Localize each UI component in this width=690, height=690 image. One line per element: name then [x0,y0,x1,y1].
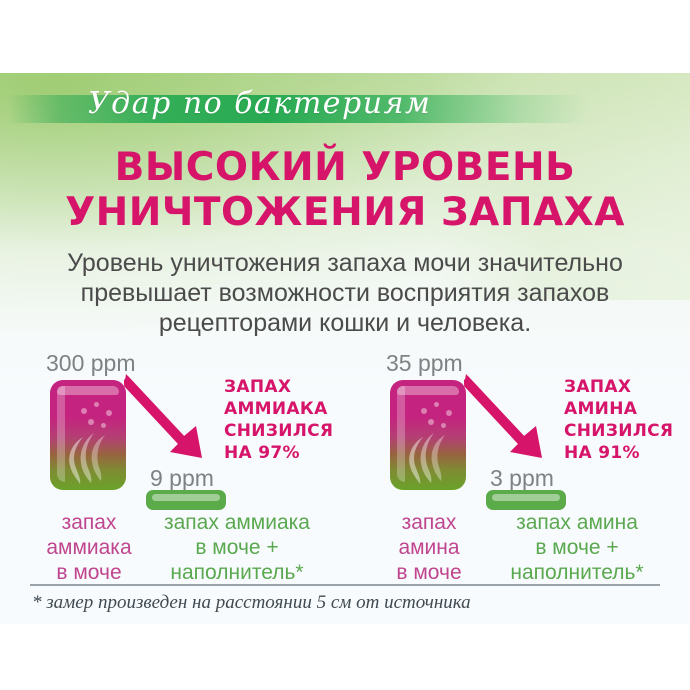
footnote-text: * замер произведен на расстоянии 5 см от… [32,592,662,614]
caption-after: запах аммиака в моче + наполнитель* [134,510,340,585]
callout-reduction: ЗАПАХ АМИНА СНИЗИЛСЯ НА 91% [564,376,690,464]
infographic-poster: Удар по бактериям ВЫСОКИЙ УРОВЕНЬ УНИЧТО… [0,0,690,690]
chart-group-ammonia: 300 ppm 9 ppm ЗАПАХ АММИАКА [28,350,358,585]
odor-wave-icon [390,380,466,490]
bar-before [50,380,126,490]
caption-before: запах аммиака в моче [36,510,142,585]
value-label-before: 35 ppm [386,350,463,377]
odor-wave-icon [50,380,126,490]
background-top-white [0,0,690,73]
callout-line-3: СНИЗИЛСЯ [224,420,364,442]
callout-line-1: ЗАПАХ [564,376,690,398]
value-label-after: 9 ppm [150,465,214,492]
caption-after: запах амина в моче + наполнитель* [474,510,680,585]
value-label-after: 3 ppm [490,465,554,492]
bar-after [146,490,226,510]
subtitle-line-1: Уровень уничтожения запаха мочи значител… [12,248,678,278]
callout-line-2: АМИНА [564,398,690,420]
callout-line-2: АММИАКА [224,398,364,420]
caption-before-line-3: в моче [376,560,482,585]
chart-group-amine: 35 ppm 3 ppm ЗАПАХ АМИНА [368,350,680,585]
caption-before-line-1: запах [376,510,482,535]
value-label-before: 300 ppm [46,350,136,377]
page-title-line-1: ВЫСОКИЙ УРОВЕНЬ [0,145,690,190]
down-arrow-icon [464,372,556,464]
caption-after-line-1: запах аммиака [134,510,340,535]
callout-line-3: СНИЗИЛСЯ [564,420,690,442]
caption-before-line-3: в моче [36,560,142,585]
background-bottom-white [0,624,690,690]
page-title-line-2: УНИЧТОЖЕНИЯ ЗАПАХА [0,190,690,235]
callout-line-1: ЗАПАХ [224,376,364,398]
banner-text: Удар по бактериям [88,86,508,121]
footnote-divider [30,584,660,586]
callout-line-4: НА 97% [224,442,364,464]
caption-before: запах амина в моче [376,510,482,585]
caption-before-line-2: амина [376,535,482,560]
page-title: ВЫСОКИЙ УРОВЕНЬ УНИЧТОЖЕНИЯ ЗАПАХА [0,145,690,235]
caption-after-line-3: наполнитель* [474,560,680,585]
caption-after-line-3: наполнитель* [134,560,340,585]
caption-before-line-2: аммиака [36,535,142,560]
caption-after-line-2: в моче + [134,535,340,560]
callout-reduction: ЗАПАХ АММИАКА СНИЗИЛСЯ НА 97% [224,376,364,464]
subtitle-line-2: превышает возможности восприятия запахов [12,278,678,308]
callout-line-4: НА 91% [564,442,690,464]
subtitle-line-3: рецепторами кошки и человека. [12,308,678,338]
bar-after [486,490,566,510]
caption-before-line-1: запах [36,510,142,535]
caption-after-line-1: запах амина [474,510,680,535]
down-arrow-icon [124,372,216,464]
bar-before [390,380,466,490]
caption-after-line-2: в моче + [474,535,680,560]
subtitle: Уровень уничтожения запаха мочи значител… [12,248,678,338]
